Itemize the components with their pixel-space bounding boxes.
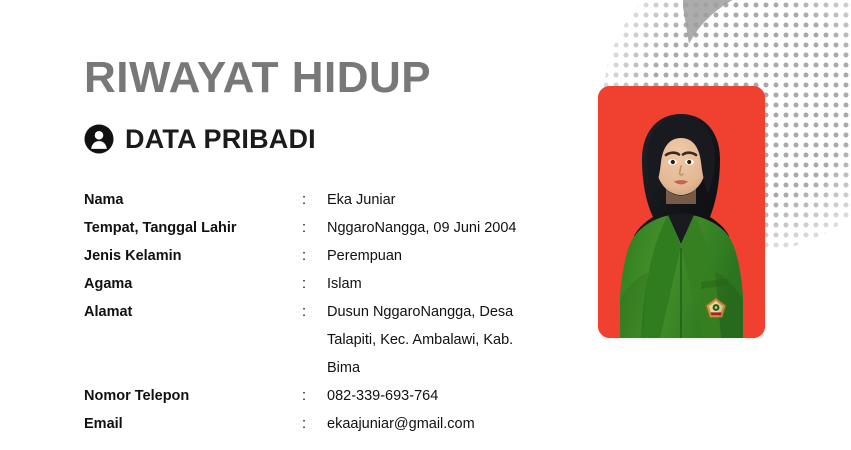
- section-title: DATA PRIBADI: [125, 124, 316, 154]
- portrait-photo: [598, 86, 765, 338]
- field-value-line: Dusun NggaroNangga, Desa: [327, 298, 564, 326]
- field-separator: :: [302, 214, 327, 242]
- field-separator: :: [302, 270, 327, 298]
- field-value: NggaroNangga, 09 Juni 2004: [327, 214, 564, 242]
- table-row: Alamat : Dusun NggaroNangga, Desa Talapi…: [84, 298, 564, 382]
- field-label: Alamat: [84, 298, 302, 382]
- page-title: RIWAYAT HIDUP: [84, 52, 431, 104]
- field-separator: :: [302, 186, 327, 214]
- table-row: Nomor Telepon : 082-339-693-764: [84, 382, 564, 410]
- field-value: Perempuan: [327, 242, 564, 270]
- field-label: Tempat, Tanggal Lahir: [84, 214, 302, 242]
- field-separator: :: [302, 382, 327, 410]
- gray-arc-decoration: [683, 0, 833, 52]
- table-row: Agama : Islam: [84, 270, 564, 298]
- field-value: Islam: [327, 270, 564, 298]
- field-separator: :: [302, 242, 327, 270]
- section-header: DATA PRIBADI: [84, 124, 316, 154]
- field-value: Eka Juniar: [327, 186, 564, 214]
- field-value: 082-339-693-764: [327, 382, 564, 410]
- table-row: Jenis Kelamin : Perempuan: [84, 242, 564, 270]
- field-label: Nama: [84, 186, 302, 214]
- field-label: Jenis Kelamin: [84, 242, 302, 270]
- table-row: Tempat, Tanggal Lahir : NggaroNangga, 09…: [84, 214, 564, 242]
- field-value-line: Talapiti, Kec. Ambalawi, Kab.: [327, 326, 564, 354]
- field-value-line: Bima: [327, 354, 564, 382]
- field-separator: :: [302, 410, 327, 438]
- table-row: Email : ekaajuniar@gmail.com: [84, 410, 564, 438]
- field-label: Agama: [84, 270, 302, 298]
- field-label: Email: [84, 410, 302, 438]
- field-value-multiline: Dusun NggaroNangga, Desa Talapiti, Kec. …: [327, 298, 564, 382]
- personal-data-table: Nama : Eka Juniar Tempat, Tanggal Lahir …: [84, 186, 564, 438]
- person-circle-icon: [84, 124, 114, 154]
- field-value: ekaajuniar@gmail.com: [327, 410, 564, 438]
- table-row: Nama : Eka Juniar: [84, 186, 564, 214]
- field-separator: :: [302, 298, 327, 382]
- field-label: Nomor Telepon: [84, 382, 302, 410]
- cv-page: RIWAYAT HIDUP DATA PRIBADI Nama : Eka Ju…: [0, 0, 851, 450]
